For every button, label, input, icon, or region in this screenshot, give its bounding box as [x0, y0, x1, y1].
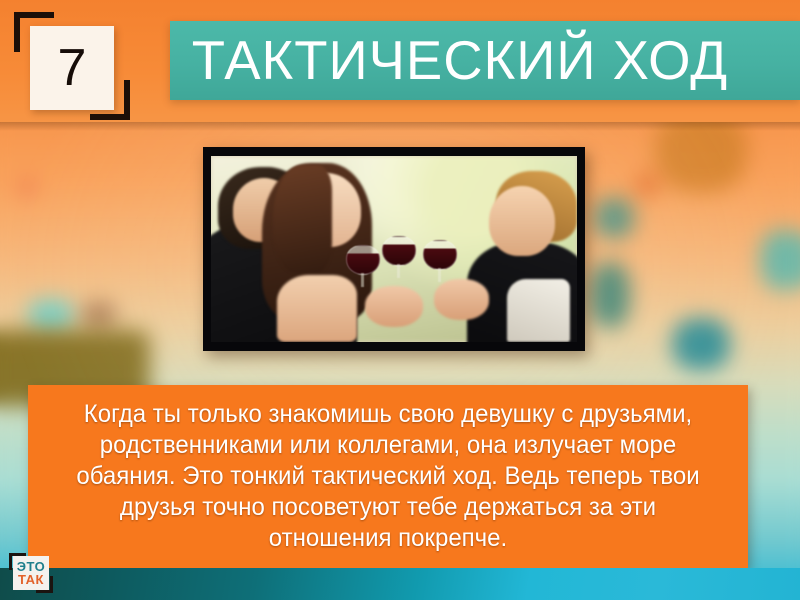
page-title: ТАКТИЧЕСКИЙ ХОД [170, 33, 728, 88]
bracket-bottom-right-icon [90, 80, 130, 120]
watermark-logo: ЭТО ТАК [9, 553, 53, 593]
caption-text: Когда ты только знакомишь свою девушку с… [52, 399, 724, 554]
header-plate-shadow [0, 122, 800, 131]
photo-hand-right [434, 279, 489, 320]
logo-bracket-bottom-right-icon [36, 576, 53, 593]
bracket-top-left-icon [14, 12, 54, 52]
wine-glass-right [420, 238, 460, 284]
wine-glass-left [343, 243, 383, 289]
wine-glass-center [379, 234, 419, 280]
footer-strip [0, 568, 800, 600]
caption-band: Когда ты только знакомишь свою девушку с… [28, 385, 748, 568]
slide-canvas: ТАКТИЧЕСКИЙ ХОД 7 [0, 0, 800, 600]
photo-white-shirt [507, 279, 569, 342]
slide-number-badge: 7 [14, 12, 130, 118]
photo-woman-hair-front [273, 165, 332, 273]
title-bar: ТАКТИЧЕСКИЙ ХОД [170, 21, 800, 100]
photo-man-right-head [489, 186, 555, 257]
photo-image [211, 156, 577, 342]
logo-bracket-top-left-icon [9, 553, 26, 570]
photo-hand-center [365, 286, 424, 327]
photo-frame [203, 147, 585, 351]
